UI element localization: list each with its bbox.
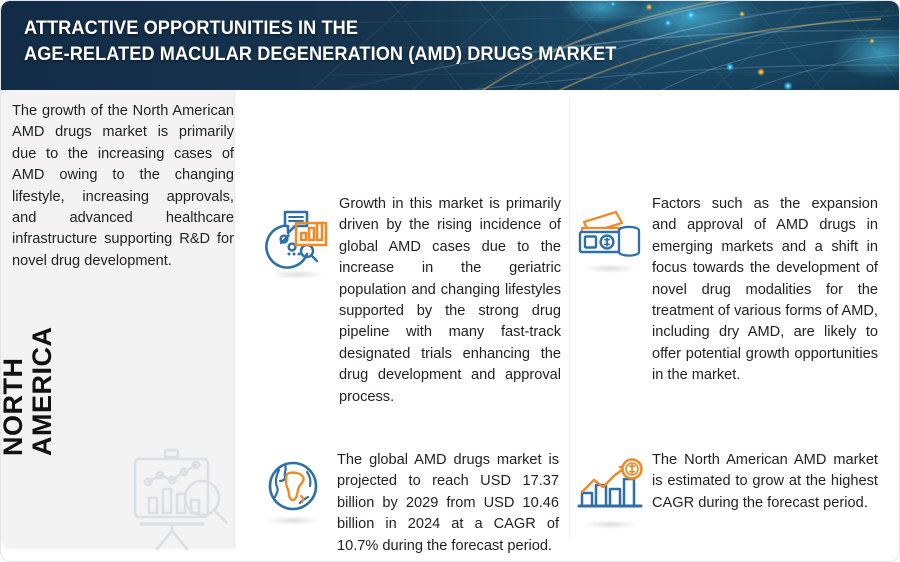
growth-chart-dollar-icon bbox=[576, 458, 646, 520]
column-divider bbox=[569, 98, 570, 538]
page-title: ATTRACTIVE OPPORTUNITIES IN THE AGE-RELA… bbox=[24, 15, 616, 67]
region-panel-north-america: The growth of the North American AMD dru… bbox=[1, 90, 235, 549]
cell-text: Factors such as the expansion and approv… bbox=[652, 194, 878, 387]
market-research-barchart-icon bbox=[263, 202, 331, 270]
globe-icon bbox=[263, 456, 323, 516]
icon-shadow bbox=[584, 520, 638, 529]
cell-text: The North American AMD market is estimat… bbox=[652, 450, 878, 514]
cell-text: Growth in this market is primarily drive… bbox=[339, 194, 561, 408]
cell-global-market-forecast: The global AMD drugs market is projected… bbox=[263, 450, 563, 557]
icon-shadow bbox=[583, 264, 637, 273]
money-cash-coins-icon bbox=[576, 204, 644, 264]
icon-shadow bbox=[266, 516, 320, 525]
infographic-card: ATTRACTIVE OPPORTUNITIES IN THE AGE-RELA… bbox=[0, 0, 900, 562]
cell-text: The global AMD drugs market is projected… bbox=[337, 450, 559, 557]
cell-emerging-market-opportunities: Factors such as the expansion and approv… bbox=[576, 194, 886, 387]
icon-shadow bbox=[270, 270, 324, 279]
region-label: NORTH AMERICA bbox=[0, 276, 57, 456]
cell-market-growth-drivers: Growth in this market is primarily drive… bbox=[263, 194, 563, 408]
presentation-chart-magnifier-icon bbox=[127, 448, 235, 552]
infographic-body: The growth of the North American AMD dru… bbox=[1, 90, 899, 562]
region-description: The growth of the North American AMD dru… bbox=[12, 101, 234, 272]
header-banner: ATTRACTIVE OPPORTUNITIES IN THE AGE-RELA… bbox=[1, 1, 899, 90]
cell-north-america-cagr: The North American AMD market is estimat… bbox=[576, 450, 886, 520]
